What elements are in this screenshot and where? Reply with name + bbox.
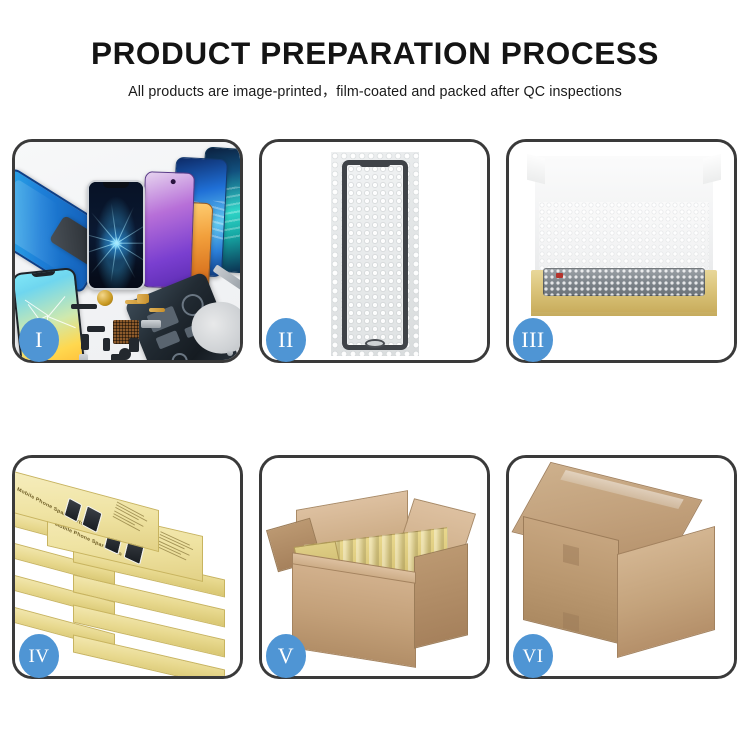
process-step-card-4: Mobile Phone Spare Parts Mobile Phone Sp…	[12, 455, 243, 679]
process-step-card-6: VI	[506, 455, 737, 679]
step-badge-6: VI	[513, 634, 553, 678]
step-badge-4: IV	[19, 634, 59, 678]
process-step-card-3: III	[506, 139, 737, 363]
process-step-card-2: II	[259, 139, 490, 363]
home-button-icon	[365, 339, 385, 348]
carton-flap-mark-icon	[563, 544, 579, 566]
vibrator-icon	[81, 334, 89, 350]
metal-bracket-icon	[79, 354, 88, 360]
connector-icon	[137, 294, 149, 303]
page-title: PRODUCT PREPARATION PROCESS	[0, 36, 750, 71]
label-sticker-icon	[556, 273, 563, 278]
sim-tray-icon	[129, 338, 139, 352]
process-step-card-5: V	[259, 455, 490, 679]
shield-can-icon	[141, 320, 161, 328]
box-art-screen-icon	[81, 505, 102, 533]
wrapped-screen-glass-icon	[342, 160, 408, 350]
step-badge-3: III	[513, 318, 553, 362]
foam-padding-icon	[539, 202, 709, 274]
receiver-icon	[111, 354, 125, 360]
step-badge-2: II	[266, 318, 306, 362]
ribbon-cable-icon	[149, 308, 165, 312]
process-step-card-1: I	[12, 139, 243, 363]
small-chip-icon	[87, 326, 105, 332]
purple-phone-icon	[141, 171, 195, 289]
button-part-icon	[103, 338, 110, 351]
product-preparation-poster: PRODUCT PREPARATION PROCESS All products…	[0, 0, 750, 750]
box-spec-lines	[112, 502, 152, 538]
wrapped-part-in-box-icon	[543, 268, 705, 296]
page-subtitle: All products are image-printed，film-coat…	[0, 80, 750, 101]
box-spec-lines	[156, 531, 197, 566]
step-badge-5: V	[266, 634, 306, 678]
carton-right-face-icon	[414, 543, 468, 648]
antenna-strip-icon	[71, 304, 97, 309]
process-step-grid: I II III	[12, 139, 738, 679]
screw-icon	[237, 358, 240, 360]
black-front-glass-icon	[87, 180, 145, 290]
screw-icon	[227, 350, 233, 356]
poster-header: PRODUCT PREPARATION PROCESS All products…	[0, 0, 750, 101]
speaker-component-icon	[97, 290, 113, 306]
step-badge-1: I	[19, 318, 59, 362]
